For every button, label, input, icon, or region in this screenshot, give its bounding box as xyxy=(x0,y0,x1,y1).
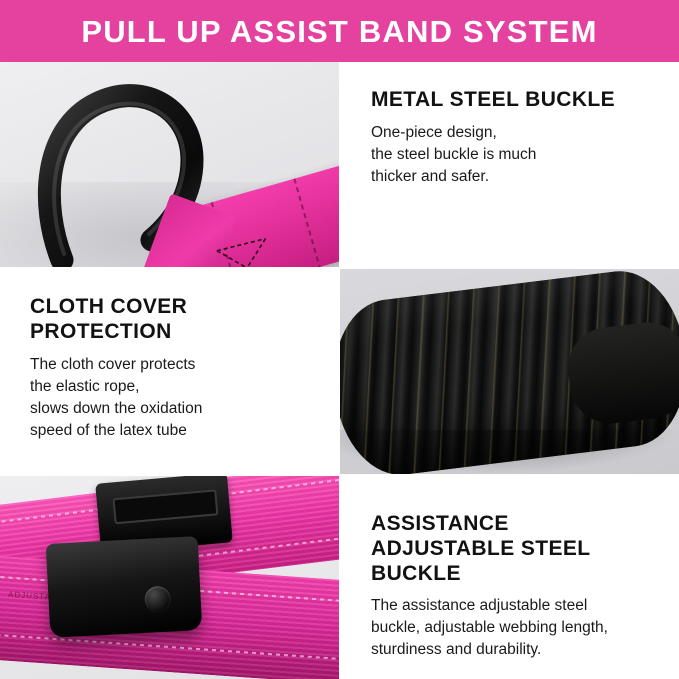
panel-heading-3: ASSISTANCE ADJUSTABLE STEEL BUCKLE xyxy=(371,512,657,586)
image-cloth-cover-rope xyxy=(340,269,679,476)
panel-grid: METAL STEEL BUCKLE One-piece design, the… xyxy=(0,62,679,679)
buckle-lower-body xyxy=(46,536,203,638)
page-title: PULL UP ASSIST BAND SYSTEM xyxy=(81,16,597,47)
buckle-pivot-hole xyxy=(144,586,171,613)
panel-heading-1: METAL STEEL BUCKLE xyxy=(371,88,657,113)
product-infographic: PULL UP ASSIST BAND SYSTEM xyxy=(0,0,679,679)
text-metal-steel-buckle: METAL STEEL BUCKLE One-piece design, the… xyxy=(339,62,679,269)
panel-assistance-adjustable-steel-buckle: ADJUSTABLE ASSISTANCE ADJUSTABLE STEEL B… xyxy=(0,476,679,679)
panel-body-1: One-piece design, the steel buckle is mu… xyxy=(371,122,657,188)
panel-heading-2: CLOTH COVER PROTECTION xyxy=(30,295,318,345)
image-metal-steel-buckle xyxy=(0,62,339,269)
text-assistance-adjustable-steel-buckle: ASSISTANCE ADJUSTABLE STEEL BUCKLE The a… xyxy=(339,476,679,679)
header-banner: PULL UP ASSIST BAND SYSTEM xyxy=(0,0,679,62)
panel-body-2: The cloth cover protects the elastic rop… xyxy=(30,354,318,442)
panel-metal-steel-buckle: METAL STEEL BUCKLE One-piece design, the… xyxy=(0,62,679,269)
text-cloth-cover-protection: CLOTH COVER PROTECTION The cloth cover p… xyxy=(0,269,340,476)
buckle-slot xyxy=(113,489,219,524)
panel-body-3: The assistance adjustable steel buckle, … xyxy=(371,595,657,661)
rope-shadow xyxy=(340,430,679,474)
image-adjustable-steel-buckle: ADJUSTABLE xyxy=(0,476,339,679)
panel-cloth-cover-protection: CLOTH COVER PROTECTION The cloth cover p… xyxy=(0,269,679,476)
